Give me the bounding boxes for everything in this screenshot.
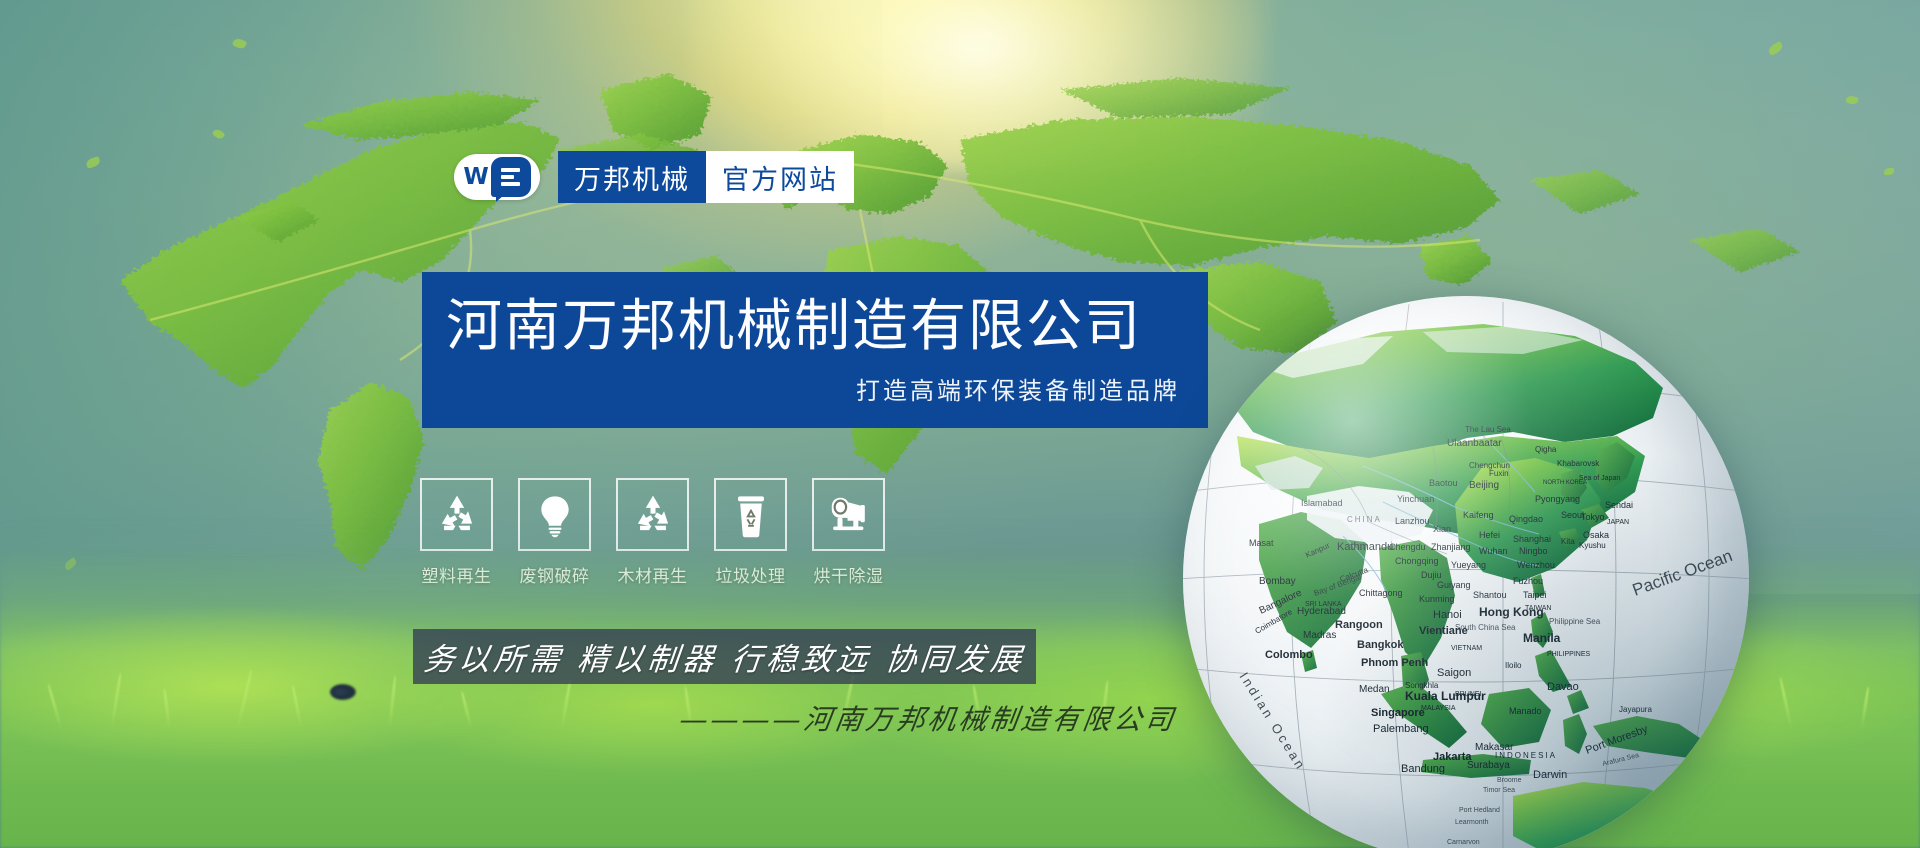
globe-region-label: BRUNEI <box>1455 691 1482 698</box>
globe-city-label: Qigha <box>1535 445 1557 454</box>
globe-city-label: Osaka <box>1583 530 1609 540</box>
globe-city-label: Port Hedland <box>1459 807 1500 814</box>
globe-city-label: Sea of Japan <box>1579 475 1620 482</box>
company-title: 河南万邦机械制造有限公司 <box>446 296 1180 359</box>
logo-b-lines <box>501 168 520 186</box>
globe-city-label: Palembang <box>1373 723 1429 735</box>
globe-city-label: Wenzhou <box>1517 560 1555 570</box>
globe-city-label: Singapore <box>1371 707 1425 719</box>
globe-city-label: Taipei <box>1523 590 1547 600</box>
globe-city-label: Yinchuan <box>1397 494 1434 504</box>
globe-region-label: INDONESIA <box>1495 751 1557 760</box>
globe-city-label: Manila <box>1523 631 1561 645</box>
logo-w-glyph: W <box>463 166 487 189</box>
globe-sea-label: South China Sea <box>1455 623 1516 632</box>
globe-city-label: Broome <box>1497 777 1522 784</box>
globe-city-label: Yueyang <box>1451 560 1486 570</box>
globe-city-label: Kyushu <box>1579 541 1606 550</box>
globe-city-label: Rangoon <box>1335 619 1383 631</box>
globe-city-label: Ningbo <box>1519 546 1548 556</box>
globe-city-label: Xian <box>1433 524 1451 534</box>
company-tagline: 打造高端环保装备制造品牌 <box>446 371 1180 406</box>
globe-sphere: Ulaanbaatar Beijing Baotou Yinchuan Lanz… <box>1183 296 1749 848</box>
globe-region-label: CHINA <box>1347 515 1382 524</box>
globe-region-label: MALAYSIA <box>1421 705 1456 712</box>
globe-region-label: VIETNAM <box>1451 645 1482 652</box>
globe-city-label: Saigon <box>1437 667 1471 679</box>
globe-region-label: JAPAN <box>1607 519 1629 526</box>
globe-city-label: Surabaya <box>1467 760 1510 771</box>
globe-city-label: Kunming <box>1419 594 1455 604</box>
globe-city-label: Medan <box>1359 684 1390 695</box>
wb-monogram-icon[interactable]: W <box>454 154 540 200</box>
globe-region-label: PHILIPPINES <box>1547 651 1591 658</box>
globe-city-label: Tokyo <box>1581 512 1605 522</box>
globe-city-label: Hanoi <box>1433 609 1462 621</box>
globe-city-label: Dujiu <box>1421 570 1442 580</box>
slogan-signature: ————河南万邦机械制造有限公司 <box>677 698 1179 738</box>
globe-city-label: Shanghai <box>1513 534 1551 544</box>
globe-city-label: Colombo <box>1265 649 1313 661</box>
globe-region-label: SRI LANKA <box>1305 601 1342 608</box>
globe-sea-label: Philippine Sea <box>1549 617 1601 626</box>
globe-city-label: Phnom Penh <box>1361 657 1429 669</box>
globe-city-label: Qingdao <box>1509 514 1543 524</box>
logo-official-site-label[interactable]: 官方网站 <box>706 151 854 203</box>
globe-city-label: Guiyang <box>1437 580 1471 590</box>
globe-city-label: Ulaanbaatar <box>1447 438 1502 449</box>
globe-city-label: Manado <box>1509 706 1542 716</box>
globe-city-label: Zhanjiang <box>1431 542 1471 552</box>
globe-city-label: Chittagong <box>1359 588 1403 598</box>
slogan-banner: 务以所需 精以制器 行稳致远 协同发展 <box>413 629 1036 684</box>
grass-insect <box>330 684 356 700</box>
globe-city-label: Fuxin <box>1489 469 1509 478</box>
company-title-banner: 河南万邦机械制造有限公司 打造高端环保装备制造品牌 <box>422 272 1208 428</box>
globe-city-label: Hong Kong <box>1479 605 1544 619</box>
globe-city-label: Khabarovsk <box>1557 459 1600 468</box>
globe-city-label: Baotou <box>1429 478 1458 488</box>
globe-city-label: Beijing <box>1469 480 1499 491</box>
globe-city-label: Hefei <box>1479 530 1500 540</box>
logo-b-glyph <box>491 157 531 197</box>
globe-map-svg: Ulaanbaatar Beijing Baotou Yinchuan Lanz… <box>1183 296 1749 848</box>
globe-city-label: Kita <box>1561 537 1575 546</box>
globe-city-label: Bangkok <box>1357 639 1404 651</box>
globe-city-label: Madras <box>1303 630 1336 641</box>
globe-city-label: Carnarvon <box>1447 839 1480 846</box>
site-logo-bar[interactable]: W 万邦机械 官方网站 <box>454 151 854 203</box>
globe-city-label: Darwin <box>1533 769 1567 781</box>
globe-city-label: Sendai <box>1605 500 1633 510</box>
hero-banner: W 万邦机械 官方网站 河南万邦机械制造有限公司 打造高端环保装备制造品牌 <box>0 0 1920 848</box>
globe-city-label: Islamabad <box>1301 498 1343 508</box>
globe-city-label: Masat <box>1249 538 1274 548</box>
globe-city-label: Learmonth <box>1455 819 1489 826</box>
globe-city-label: Shantou <box>1473 590 1507 600</box>
slogan-text: 务以所需 精以制器 行稳致远 协同发展 <box>421 634 1027 679</box>
globe-city-label: Kathmandu <box>1337 541 1393 553</box>
globe-city-label: Jayapura <box>1619 705 1652 714</box>
globe-sea-label: Timor Sea <box>1483 787 1515 794</box>
globe-city-label: Lanzhou <box>1395 516 1430 526</box>
globe-city-label: Fuzhou <box>1513 576 1543 586</box>
globe-city-label: Bombay <box>1259 576 1296 587</box>
globe-city-label: Bandung <box>1401 763 1445 775</box>
globe-city-label: Chengdu <box>1389 542 1426 552</box>
globe-city-label: Kaifeng <box>1463 510 1494 520</box>
globe-city-label: Pyongyang <box>1535 494 1580 504</box>
logo-brand-label[interactable]: 万邦机械 <box>558 151 706 203</box>
globe-city-label: Iloilo <box>1505 661 1522 670</box>
globe-city-label: Wuhan <box>1479 546 1507 556</box>
globe-city-label: The Lau Sea <box>1465 425 1511 434</box>
asia-globe: Ulaanbaatar Beijing Baotou Yinchuan Lanz… <box>1183 296 1749 848</box>
globe-city-label: Chongqing <box>1395 556 1439 566</box>
globe-city-label: Davao <box>1547 681 1579 693</box>
